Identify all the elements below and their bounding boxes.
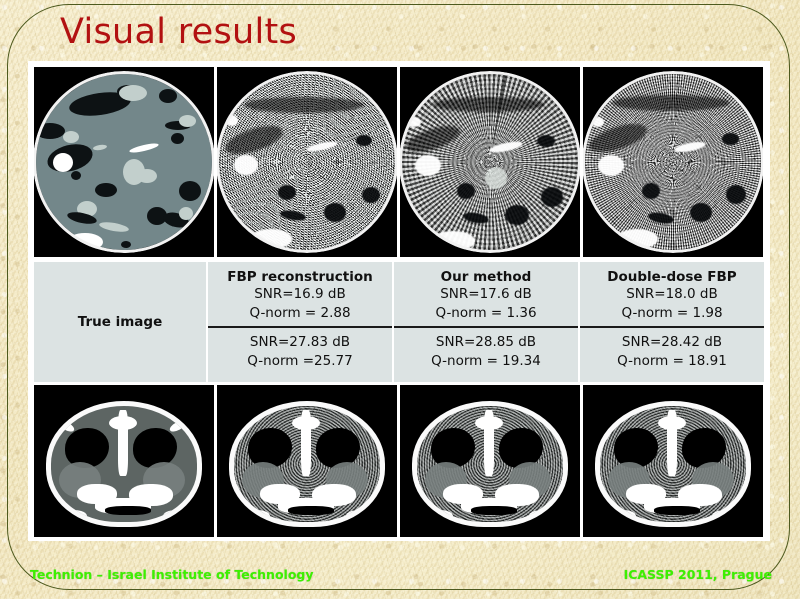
metric-snr-dd-2: SNR=28.42 dB (580, 333, 764, 352)
metric-snr-fbp-2: SNR=27.83 dB (208, 333, 392, 352)
double-dose-fbp-reconstruction (583, 67, 763, 257)
page-title: Visual results (60, 12, 297, 52)
head-ct-double-dose-fbp (583, 385, 763, 537)
metric-qnorm-dd-2: Q-norm = 18.91 (580, 352, 764, 371)
metric-qnorm-fbp-2: Q-norm =25.77 (208, 352, 392, 371)
metric-qnorm-dd-1: Q-norm = 1.98 (580, 304, 764, 323)
metric-snr-fbp-1: SNR=16.9 dB (208, 285, 392, 304)
column-header-our-method: Our method (394, 262, 578, 285)
footer-conference: ICASSP 2011, Prague (624, 567, 772, 582)
head-ct-fbp (217, 385, 397, 537)
metric-snr-ours-2: SNR=28.85 dB (394, 333, 578, 352)
metric-qnorm-fbp-1: Q-norm = 2.88 (208, 304, 392, 323)
metrics-table: True image FBP reconstruction SNR=16.9 d… (34, 262, 764, 382)
head-ct-true-image (34, 385, 214, 537)
metric-snr-ours-1: SNR=17.6 dB (394, 285, 578, 304)
column-header-fbp: FBP reconstruction (208, 262, 392, 285)
row-divider (208, 326, 392, 328)
true-image-label: True image (78, 314, 162, 330)
head-ct-our-method (400, 385, 580, 537)
table-column-our-method: Our method SNR=17.6 dB Q-norm = 1.36 SNR… (392, 262, 578, 382)
metric-qnorm-ours-1: Q-norm = 1.36 (394, 304, 578, 323)
row-divider (394, 326, 578, 328)
true-image-phantom (34, 67, 214, 257)
our-method-reconstruction (400, 67, 580, 257)
top-image-row (34, 67, 763, 257)
metric-snr-dd-1: SNR=18.0 dB (580, 285, 764, 304)
column-header-double-dose-fbp: Double-dose FBP (580, 262, 764, 285)
content-panel: True image FBP reconstruction SNR=16.9 d… (28, 61, 770, 541)
row-divider (580, 326, 764, 328)
metric-qnorm-ours-2: Q-norm = 19.34 (394, 352, 578, 371)
table-column-fbp: FBP reconstruction SNR=16.9 dB Q-norm = … (206, 262, 392, 382)
table-cell-true-image: True image (34, 262, 206, 382)
fbp-reconstruction (217, 67, 397, 257)
table-column-double-dose-fbp: Double-dose FBP SNR=18.0 dB Q-norm = 1.9… (578, 262, 764, 382)
footer-institution: Technion – Israel Institute of Technolog… (30, 567, 314, 582)
bottom-image-row (34, 385, 763, 537)
